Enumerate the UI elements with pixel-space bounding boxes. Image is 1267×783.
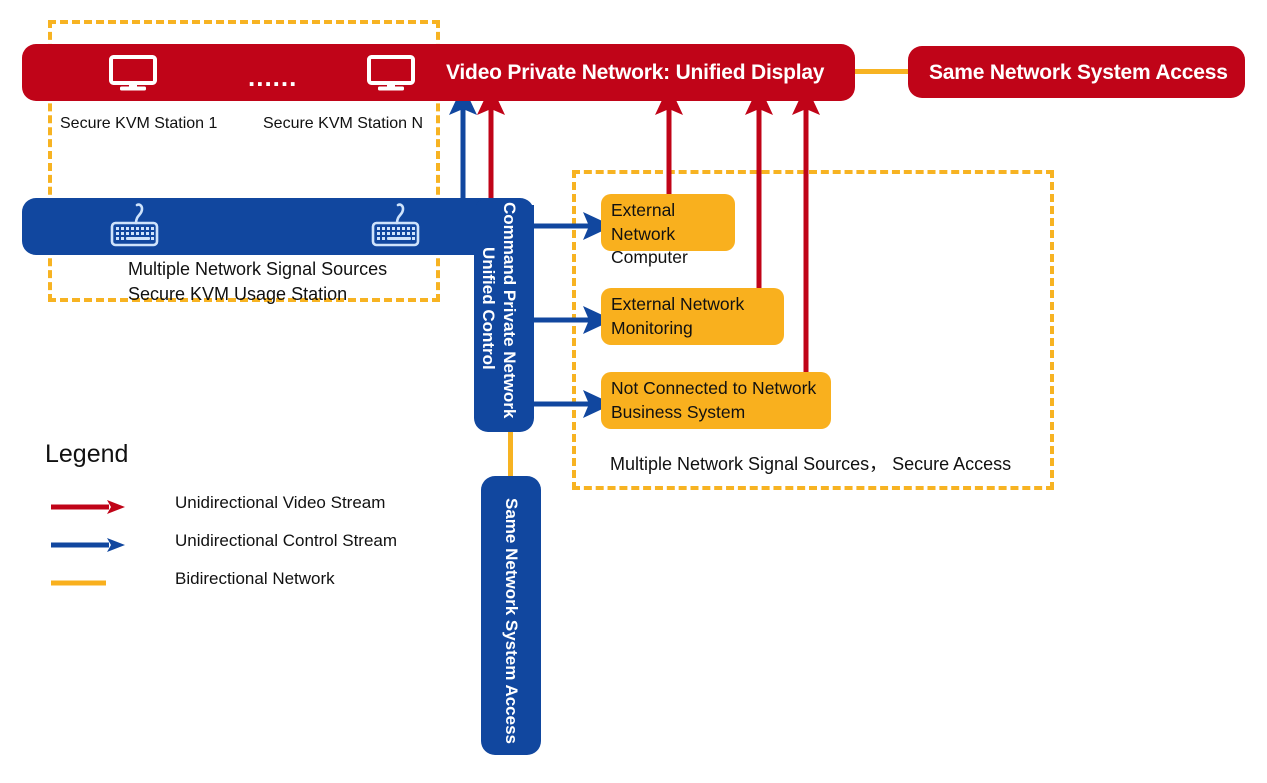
keyboard-icon <box>367 203 423 256</box>
legend-line-orange-icon <box>51 575 126 591</box>
unified-control-label: Unified Control <box>478 247 498 370</box>
video-private-network-label: Video Private Network: Unified Display <box>446 61 824 85</box>
legend-label-bidirectional-network: Bidirectional Network <box>175 569 335 589</box>
legend-item-bidirectional-network: Bidirectional Network <box>45 569 405 607</box>
business-system-box[interactable]: Not Connected to Network Business System <box>601 372 831 429</box>
monitor-icon-glyph <box>366 54 416 92</box>
same-network-system-access-bottom-label: Same Network System Access <box>501 498 521 744</box>
legend-label-control-stream: Unidirectional Control Stream <box>175 531 397 551</box>
external-network-computer-label-line1: External Network <box>601 194 735 246</box>
external-network-computer-label-line2: Computer <box>601 246 735 275</box>
monitor-icon <box>108 54 158 97</box>
legend-label-video-stream: Unidirectional Video Stream <box>175 493 385 513</box>
legend-item-control-stream: Unidirectional Control Stream <box>45 531 405 569</box>
external-network-monitoring-label-line1: External Network <box>601 288 784 317</box>
secure-kvm-usage-station-bar[interactable] <box>22 198 522 255</box>
keyboard-icon <box>106 203 162 256</box>
kvm-station-ellipsis: ...... <box>248 64 297 90</box>
monitor-icon-glyph <box>108 54 158 92</box>
keyboard-icon-glyph <box>106 203 162 251</box>
external-network-computer-box[interactable]: External Network Computer <box>601 194 735 251</box>
network-diagram-canvas: ...... Video Private Network: Unified Di… <box>0 0 1267 783</box>
business-system-label-line2: Business System <box>601 401 831 430</box>
secure-kvm-station-last-label: Secure KVM Station N <box>263 115 423 133</box>
video-private-network-bar[interactable]: ...... Video Private Network: Unified Di… <box>22 44 855 101</box>
business-system-label-line1: Not Connected to Network <box>601 372 831 401</box>
command-private-network-label: Command Private Network <box>499 202 519 418</box>
secure-kvm-station-first-label: Secure KVM Station 1 <box>60 115 217 133</box>
right-group-caption: Multiple Network Signal Sources， Secure … <box>610 452 1011 478</box>
keyboard-icon-glyph <box>367 203 423 251</box>
bidirectional-link-command-to-same-network <box>508 430 513 476</box>
same-network-system-access-top-label: Same Network System Access <box>929 61 1228 85</box>
same-network-system-access-top-box[interactable]: Same Network System Access <box>908 46 1245 98</box>
legend-item-video-stream: Unidirectional Video Stream <box>45 493 405 531</box>
legend-arrow-blue-icon <box>51 537 126 553</box>
legend: Legend Unidirectional Video Stream Unidi… <box>45 440 405 607</box>
bidirectional-link-display-to-same-network <box>855 69 913 74</box>
kvm-caption-line1: Multiple Network Signal Sources <box>128 257 387 283</box>
legend-arrow-red-icon <box>51 499 126 515</box>
external-network-monitoring-box[interactable]: External Network Monitoring <box>601 288 784 345</box>
legend-title: Legend <box>45 440 405 469</box>
external-network-monitoring-label-line2: Monitoring <box>601 317 784 346</box>
monitor-icon <box>366 54 416 97</box>
kvm-caption-line2: Secure KVM Usage Station <box>128 282 347 308</box>
